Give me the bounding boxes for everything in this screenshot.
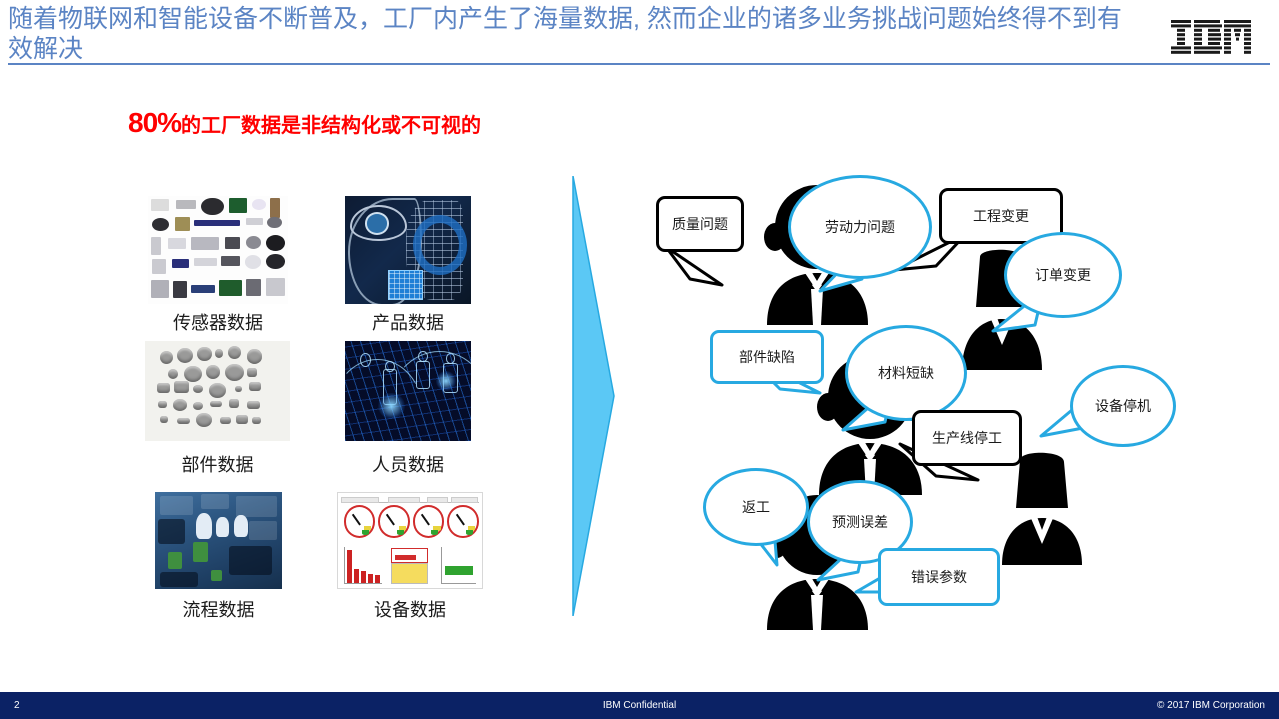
data-type-cell-0: 传感器数据 <box>148 196 288 336</box>
data-type-caption-0: 传感器数据 <box>148 309 288 335</box>
blue-arrow <box>568 176 618 616</box>
confidential-label: IBM Confidential <box>0 700 1279 711</box>
issue-label-7: 设备停机 <box>1095 396 1151 416</box>
title-underline <box>8 63 1270 65</box>
issue-label-2: 工程变更 <box>973 206 1029 226</box>
issue-bubble-4[interactable]: 部件缺陷 <box>710 330 824 384</box>
issue-label-3: 订单变更 <box>1035 265 1091 285</box>
ai-circuit-brain-image <box>345 196 471 304</box>
issue-bubble-3[interactable]: 订单变更 <box>1004 232 1122 318</box>
factory-cleanroom-image <box>155 492 282 589</box>
issue-label-6: 生产线停工 <box>932 428 1002 448</box>
sensor-collage-image <box>148 196 288 304</box>
data-type-caption-4: 流程数据 <box>155 596 282 622</box>
person-silhouette-4 <box>990 450 1095 565</box>
issue-label-0: 质量问题 <box>672 214 728 234</box>
data-type-cell-3: 人员数据 <box>345 341 471 481</box>
issue-label-10: 错误参数 <box>911 567 967 587</box>
data-type-cell-4: 流程数据 <box>155 492 282 632</box>
page-title: 随着物联网和智能设备不断普及，工厂内产生了海量数据, 然而企业的诸多业务挑战问题… <box>8 4 1138 64</box>
stat-heading: 80%的工厂数据是非结构化或不可视的 <box>128 110 481 139</box>
issue-bubble-10[interactable]: 错误参数 <box>878 548 1000 606</box>
issue-bubble-5[interactable]: 材料短缺 <box>845 325 967 421</box>
issue-label-1: 劳动力问题 <box>825 217 895 237</box>
data-type-caption-1: 产品数据 <box>345 309 471 335</box>
metal-parts-image <box>145 341 290 441</box>
data-type-cell-2: 部件数据 <box>145 341 290 481</box>
issue-bubble-7[interactable]: 设备停机 <box>1070 365 1176 447</box>
data-type-caption-5: 设备数据 <box>337 596 483 622</box>
equipment-dashboard-image <box>337 492 483 589</box>
issue-label-4: 部件缺陷 <box>739 347 795 367</box>
data-type-caption-2: 部件数据 <box>145 451 290 477</box>
issue-bubble-6[interactable]: 生产线停工 <box>912 410 1022 466</box>
ibm-logo <box>1171 20 1251 54</box>
issue-bubble-8[interactable]: 返工 <box>703 468 809 546</box>
issue-bubble-1[interactable]: 劳动力问题 <box>788 175 932 279</box>
issue-label-8: 返工 <box>742 497 770 517</box>
data-type-caption-3: 人员数据 <box>345 451 471 477</box>
data-type-cell-1: 产品数据 <box>345 196 471 336</box>
issue-bubble-0[interactable]: 质量问题 <box>656 196 744 252</box>
stat-percent: 80% <box>128 107 181 138</box>
issues-diagram: 质量问题 劳动力问题 工程变更 订单变更 部件缺陷 材料短缺 生产线停工 设备停… <box>640 140 1200 640</box>
copyright-label: © 2017 IBM Corporation <box>1157 700 1265 711</box>
data-type-cell-5: 设备数据 <box>337 492 483 632</box>
issue-label-9: 预测误差 <box>832 512 888 532</box>
slide-footer: 2 IBM Confidential © 2017 IBM Corporatio… <box>0 692 1279 719</box>
stat-rest: 的工厂数据是非结构化或不可视的 <box>181 115 481 137</box>
issue-label-5: 材料短缺 <box>878 363 934 383</box>
blue-grid-people-image <box>345 341 471 441</box>
